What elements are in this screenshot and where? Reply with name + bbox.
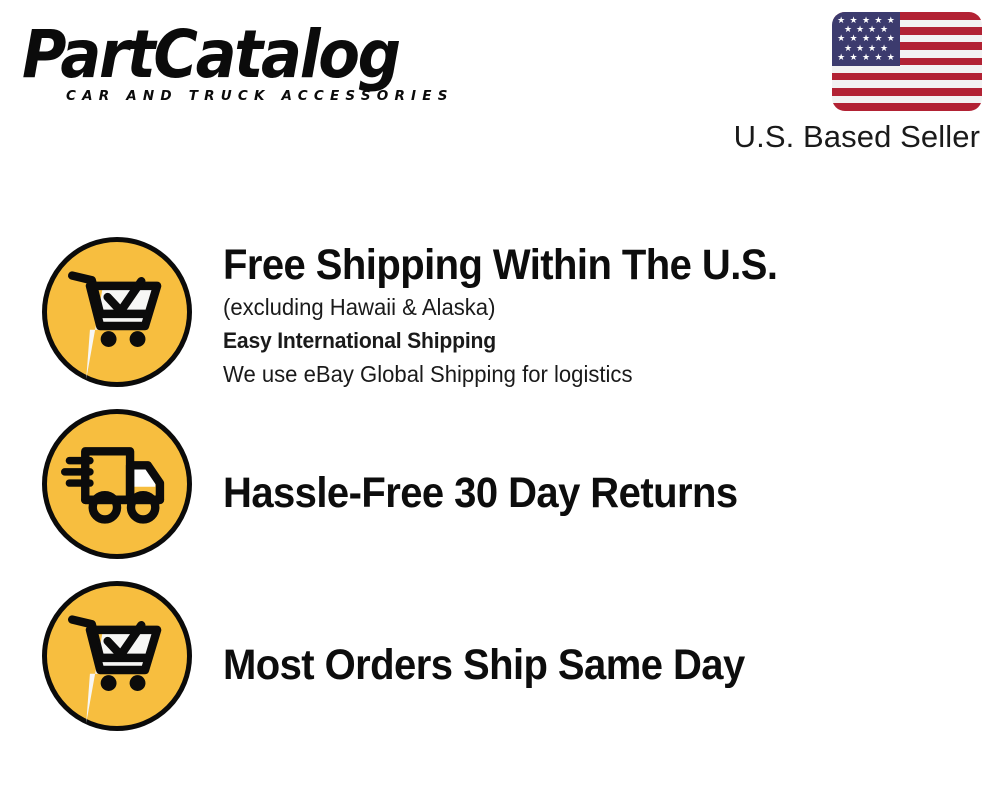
flag-canton: ★★★★★ ★★★★ ★★★★★ ★★★★ ★★★★★: [832, 12, 900, 66]
shopping-cart-check-icon: [42, 237, 192, 387]
feature-row: Hassle-Free 30 Day Returns: [0, 405, 1000, 577]
feature-row: Most Orders Ship Same Day: [0, 577, 1000, 749]
feature-list: Free Shipping Within The U.S. (excluding…: [0, 233, 1000, 749]
us-based-seller-badge: ★★★★★ ★★★★ ★★★★★ ★★★★ ★★★★★ U.S. Based S…: [682, 12, 982, 155]
feature-title: Free Shipping Within The U.S.: [223, 239, 927, 291]
feature-subtitle: (excluding Hawaii & Alaska): [223, 291, 950, 324]
feature-subtitle-detail: We use eBay Global Shipping for logistic…: [223, 358, 950, 391]
shipping-info-banner: PartCatalog CAR AND TRUCK ACCESSORIES ★★…: [0, 0, 1000, 800]
feature-row: Free Shipping Within The U.S. (excluding…: [0, 233, 1000, 405]
brand-logo: PartCatalog CAR AND TRUCK ACCESSORIES: [22, 20, 492, 120]
feature-text-block: Free Shipping Within The U.S. (excluding…: [223, 239, 980, 391]
delivery-truck-icon: [42, 409, 192, 559]
brand-wordmark: PartCatalog: [22, 20, 454, 90]
us-based-seller-label: U.S. Based Seller: [682, 119, 980, 155]
feature-title: Hassle-Free 30 Day Returns: [223, 467, 927, 519]
feature-text-block: Most Orders Ship Same Day: [223, 639, 980, 691]
feature-title: Most Orders Ship Same Day: [223, 639, 927, 691]
feature-text-block: Hassle-Free 30 Day Returns: [223, 467, 980, 519]
shopping-cart-check-icon: [42, 581, 192, 731]
us-flag-icon: ★★★★★ ★★★★ ★★★★★ ★★★★ ★★★★★: [832, 12, 982, 111]
feature-subtitle-bold: Easy International Shipping: [223, 324, 950, 358]
